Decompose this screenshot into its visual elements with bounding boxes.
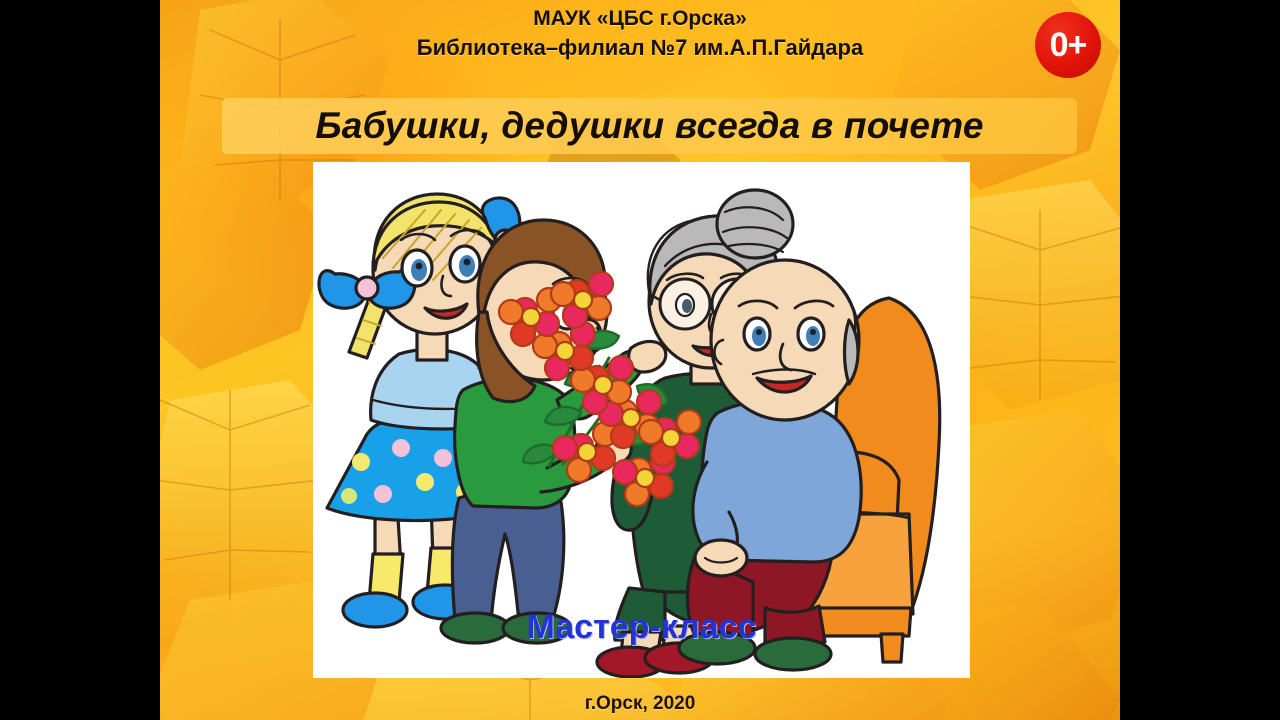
illustration-panel — [313, 162, 970, 678]
letterbox-bar-left — [0, 0, 160, 720]
header-line-2: Библиотека–филиал №7 им.А.П.Гайдара — [160, 33, 1120, 62]
slide-title: Бабушки, дедушки всегда в почете — [315, 105, 983, 147]
letterbox-bar-right — [1120, 0, 1280, 720]
presentation-slide: МАУК «ЦБС г.Орска» Библиотека–филиал №7 … — [0, 0, 1280, 720]
header-line-1: МАУК «ЦБС г.Орска» — [160, 4, 1120, 33]
age-rating-badge: 0+ — [1035, 12, 1101, 78]
master-class-caption: Мастер-класс — [313, 608, 970, 647]
slide-footer: г.Орск, 2020 — [160, 693, 1120, 715]
organization-header: МАУК «ЦБС г.Орска» Библиотека–филиал №7 … — [160, 4, 1120, 62]
title-banner: Бабушки, дедушки всегда в почете — [222, 98, 1077, 154]
family-illustration — [313, 162, 970, 678]
